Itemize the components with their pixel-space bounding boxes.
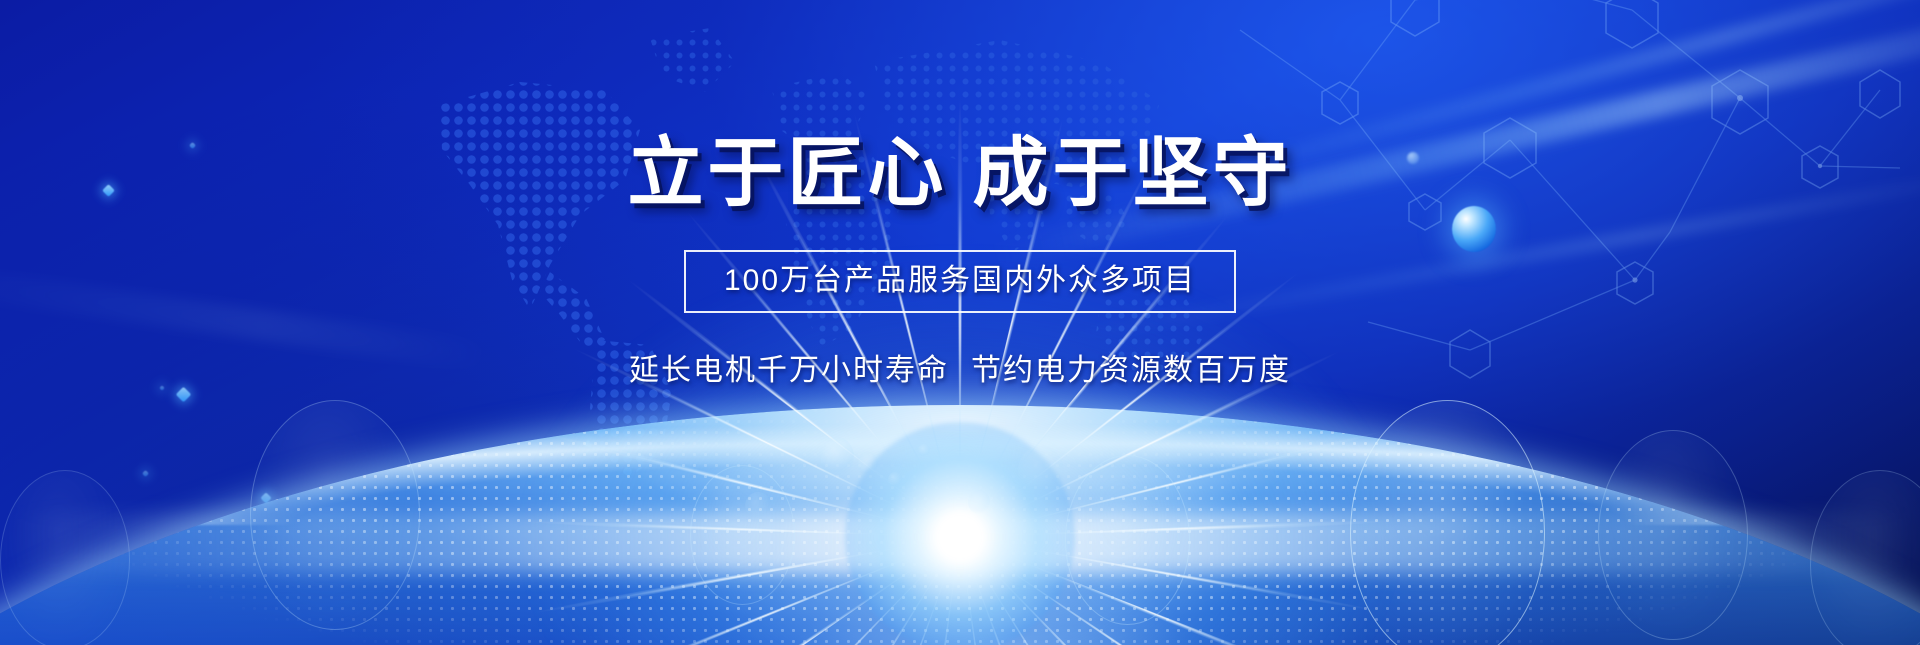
light-burst-core (845, 422, 1075, 645)
subtitle-text: 100万台产品服务国内外众多项目 (724, 264, 1196, 297)
tagline-part-1: 延长电机千万小时寿命 (629, 354, 949, 387)
banner-headline: 立于匠心 成于坚守 (0, 136, 1920, 212)
diamond-particle-icon (176, 387, 192, 403)
tagline-part-2: 节约电力资源数百万度 (971, 354, 1291, 387)
banner-content: 立于匠心 成于坚守 100万台产品服务国内外众多项目 延长电机千万小时寿命节约电… (0, 0, 1920, 389)
banner-tagline: 延长电机千万小时寿命节约电力资源数百万度 (0, 345, 1920, 389)
subtitle-box: 100万台产品服务国内外众多项目 (684, 250, 1236, 313)
banner-stage: 立于匠心 成于坚守 100万台产品服务国内外众多项目 延长电机千万小时寿命节约电… (0, 0, 1920, 645)
